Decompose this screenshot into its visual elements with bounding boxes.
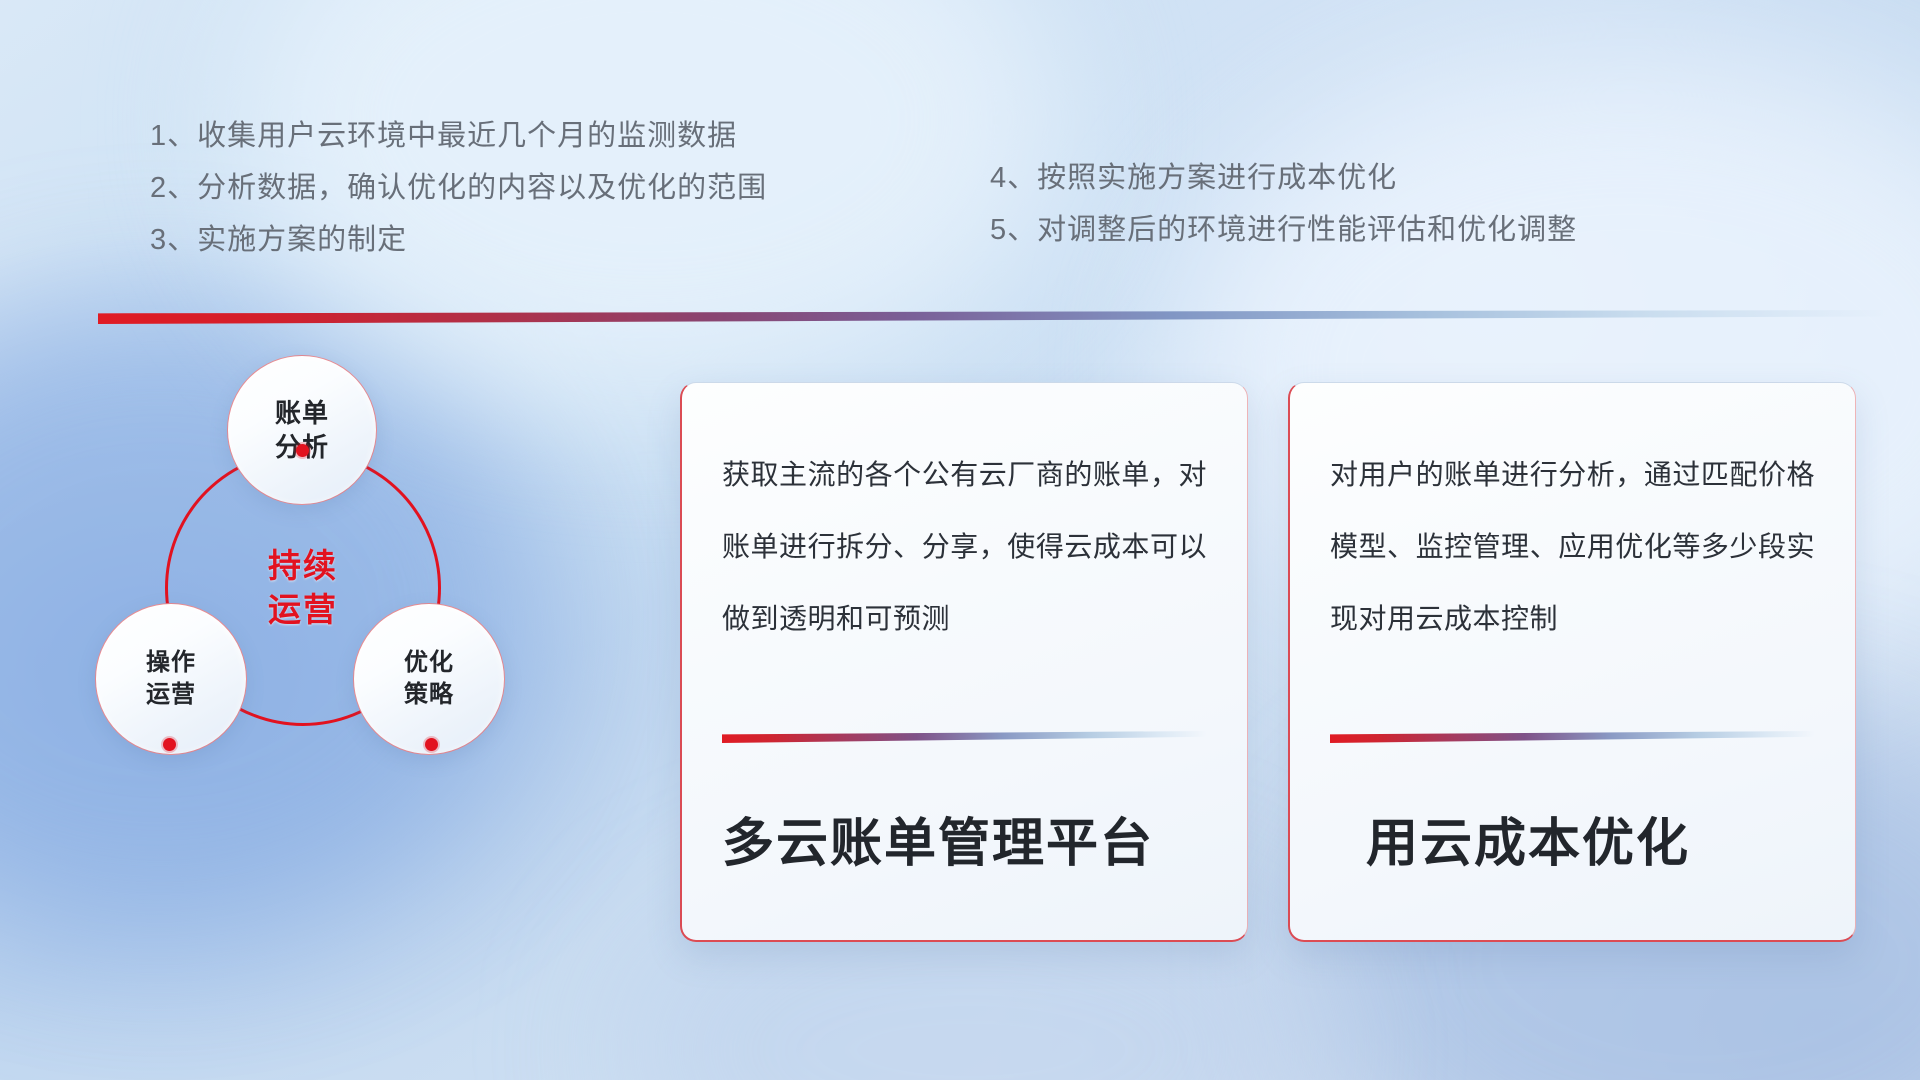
feature-card-multi-cloud-billing-platform[interactable]: 获取主流的各个公有云厂商的账单，对账单进行拆分、分享，使得云成本可以做到透明和可… bbox=[680, 382, 1248, 942]
card-divider-gradient-bar bbox=[1330, 731, 1815, 743]
process-step-2: 2、分析数据，确认优化的内容以及优化的范围 bbox=[150, 162, 767, 214]
card-divider bbox=[1330, 731, 1815, 743]
card-divider bbox=[722, 731, 1207, 743]
section-divider bbox=[98, 310, 1888, 324]
card-title: 用云成本优化 bbox=[1366, 801, 1815, 876]
card-description: 对用户的账单进行分析，通过匹配价格模型、监控管理、应用优化等多少段实现对用云成本… bbox=[1330, 439, 1815, 709]
center-label-line-1: 持续 bbox=[268, 544, 338, 588]
ring-connector-dot-right bbox=[425, 738, 438, 751]
diagram-node-optimization-strategy[interactable]: 优化 策略 bbox=[353, 603, 505, 755]
node-label-line-2: 策略 bbox=[404, 679, 454, 711]
continuous-operations-diagram: 持续 运营 账单 分析 操作 运营 优化 策略 bbox=[95, 355, 565, 775]
card-title: 多云账单管理平台 bbox=[722, 801, 1207, 876]
feature-card-cloud-cost-optimization[interactable]: 对用户的账单进行分析，通过匹配价格模型、监控管理、应用优化等多少段实现对用云成本… bbox=[1288, 382, 1856, 942]
node-label-line-1: 账单 bbox=[275, 396, 329, 430]
node-label-line-2: 运营 bbox=[146, 679, 196, 711]
ring-connector-dot-top bbox=[296, 444, 309, 457]
diagram-node-billing-analysis[interactable]: 账单 分析 bbox=[227, 355, 377, 505]
process-steps-right-column: 4、按照实施方案进行成本优化 5、对调整后的环境进行性能评估和优化调整 bbox=[990, 152, 1577, 256]
card-description: 获取主流的各个公有云厂商的账单，对账单进行拆分、分享，使得云成本可以做到透明和可… bbox=[722, 439, 1207, 709]
process-step-3: 3、实施方案的制定 bbox=[150, 214, 767, 266]
divider-gradient-bar bbox=[98, 310, 1888, 324]
process-step-5: 5、对调整后的环境进行性能评估和优化调整 bbox=[990, 204, 1577, 256]
node-label-line-1: 优化 bbox=[404, 647, 454, 679]
process-step-1: 1、收集用户云环境中最近几个月的监测数据 bbox=[150, 110, 767, 162]
center-label-line-2: 运营 bbox=[268, 588, 338, 632]
process-step-4: 4、按照实施方案进行成本优化 bbox=[990, 152, 1577, 204]
diagram-node-operations[interactable]: 操作 运营 bbox=[95, 603, 247, 755]
card-divider-gradient-bar bbox=[722, 731, 1207, 743]
node-label-line-1: 操作 bbox=[146, 647, 196, 679]
process-steps-left-column: 1、收集用户云环境中最近几个月的监测数据 2、分析数据，确认优化的内容以及优化的… bbox=[150, 110, 767, 266]
ring-connector-dot-left bbox=[163, 738, 176, 751]
slide-canvas: 1、收集用户云环境中最近几个月的监测数据 2、分析数据，确认优化的内容以及优化的… bbox=[0, 0, 1920, 1080]
